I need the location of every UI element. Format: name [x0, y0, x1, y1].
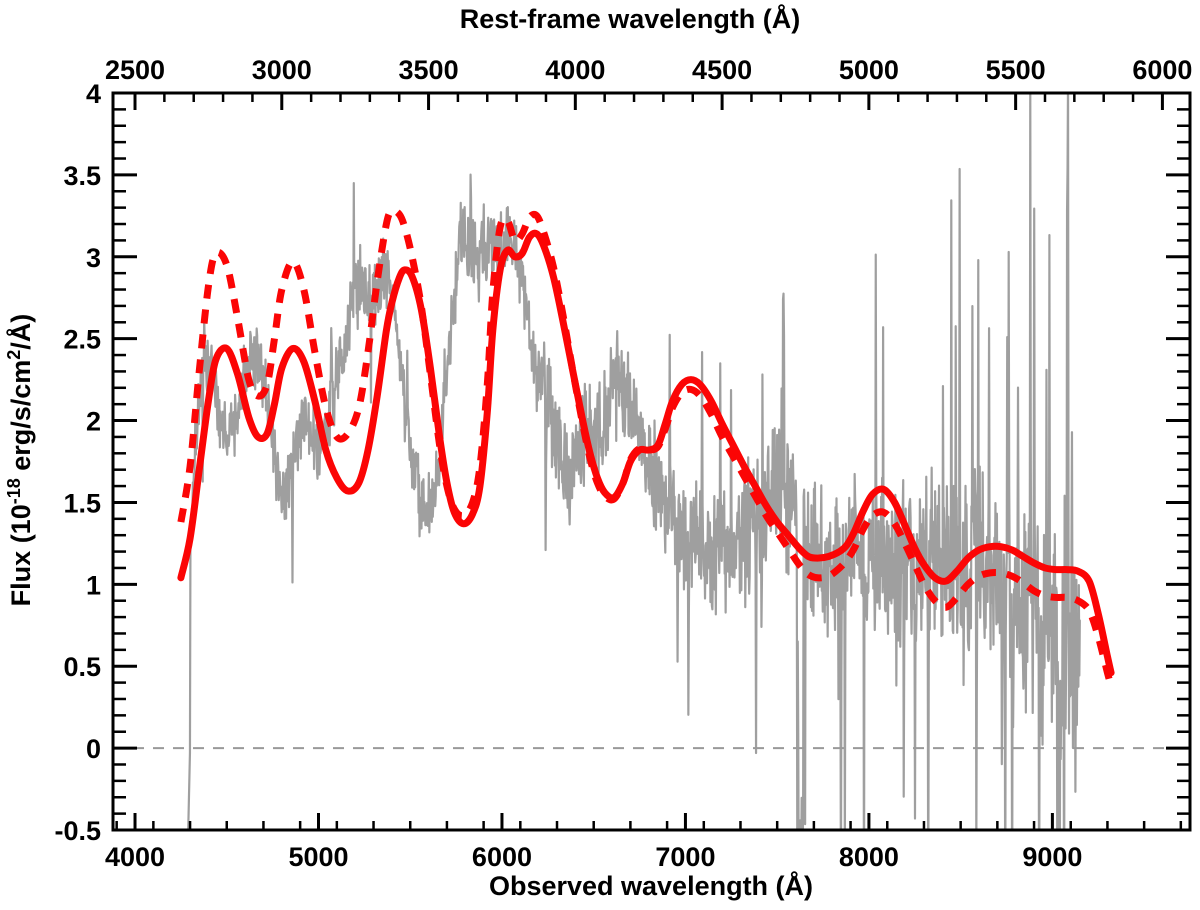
bottom-axis-title: Observed wavelength (Å) — [489, 870, 813, 901]
x-top-tick-label: 6000 — [1132, 55, 1192, 85]
y-tick-label: 2.5 — [63, 325, 101, 355]
observed-spectrum-path — [185, 77, 1080, 910]
y-tick-label: 3.5 — [63, 161, 101, 191]
y-tick-label: -0.5 — [54, 816, 101, 846]
x-tick-label: 8000 — [839, 842, 899, 872]
y-tick-label: 1.5 — [63, 488, 101, 518]
x-top-tick-label: 4500 — [692, 55, 752, 85]
x-tick-label: 4000 — [105, 842, 165, 872]
x-top-tick-label: 2500 — [105, 55, 165, 85]
x-tick-label: 5000 — [288, 842, 348, 872]
x-top-tick-label: 5500 — [986, 55, 1046, 85]
ylabel-exponent2: 2 — [4, 350, 24, 360]
svg-text:Flux (10-18 erg/s/cm2/Å): Flux (10-18 erg/s/cm2/Å) — [4, 314, 36, 607]
x-tick-label: 7000 — [655, 842, 715, 872]
y-axis-title: Flux (10-18 erg/s/cm2/Å) — [4, 314, 36, 607]
ylabel-prefix: Flux (10 — [6, 504, 36, 606]
top-axis-title: Rest-frame wavelength (Å) — [460, 3, 801, 34]
x-top-tick-label: 5000 — [839, 55, 899, 85]
x-top-tick-label: 3500 — [399, 55, 459, 85]
x-top-tick-label: 3000 — [252, 55, 312, 85]
plot-canvas: Rest-frame wavelength (Å) Observed wavel… — [0, 0, 1200, 910]
x-tick-label: 9000 — [1022, 842, 1082, 872]
tick-labels: 4000500060007000800090002500300035004000… — [54, 55, 1192, 872]
spectrum-figure: Rest-frame wavelength (Å) Observed wavel… — [0, 0, 1200, 910]
ylabel-suffix-b: /Å) — [5, 314, 36, 350]
y-tick-label: 1 — [86, 570, 101, 600]
x-top-tick-label: 4000 — [545, 55, 605, 85]
y-tick-label: 2 — [86, 407, 101, 437]
y-tick-label: 0.5 — [63, 652, 101, 682]
y-tick-label: 4 — [86, 79, 101, 109]
ylabel-exponent: -18 — [4, 478, 24, 504]
y-tick-label: 0 — [86, 734, 101, 764]
ylabel-suffix-a: erg/s/cm — [6, 360, 36, 479]
x-tick-label: 6000 — [472, 842, 532, 872]
y-tick-label: 3 — [86, 243, 101, 273]
observed-spectrum-trace — [185, 77, 1080, 910]
